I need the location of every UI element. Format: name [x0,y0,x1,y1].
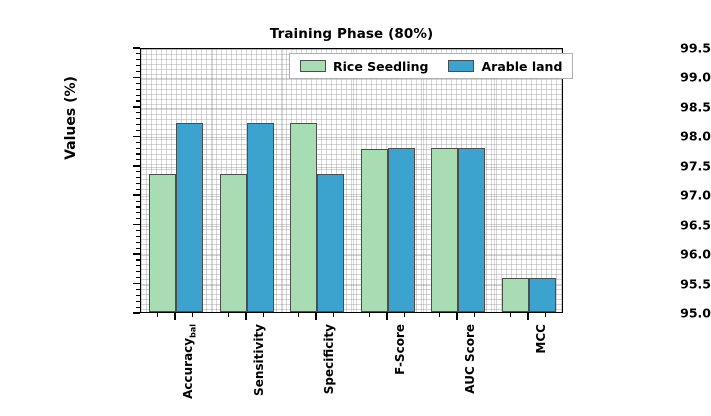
gridline-vertical [353,49,354,312]
x-tick-minor [369,313,370,317]
legend-label-arable-land: Arable land [481,59,562,74]
y-tick-mark [133,136,140,138]
y-tick-mark [133,194,140,196]
bar-rice-seedling [290,123,317,312]
x-tick-mark [174,313,176,320]
y-tick-label: 98.0 [585,129,711,144]
x-tick-mark [315,313,317,320]
bar-rice-seedling [361,149,388,312]
y-tick-mark [133,106,140,108]
y-tick-label: 95.0 [585,306,711,321]
y-tick-label: 97.5 [585,158,711,173]
x-tick-minor [192,313,193,317]
x-tick-minor [545,313,546,317]
gridline-vertical [282,49,283,312]
y-tick-mark [133,165,140,167]
x-tick-minor [510,313,511,317]
gridline-horizontal [141,285,562,286]
y-axis-label: Values (%) [63,43,79,193]
bar-rice-seedling [502,278,529,312]
bar-arable-land [176,123,203,312]
gridline-horizontal [141,108,562,109]
bar-arable-land [247,123,274,312]
y-tick-mark [133,224,140,226]
chart-title: Training Phase (80%) [140,26,563,42]
legend-entry-arable-land: Arable land [448,59,562,74]
x-tick-mark [456,313,458,320]
y-tick-label: 98.5 [585,99,711,114]
gridline-horizontal [141,167,562,168]
bar-chart-figure: Training Phase (80%) Values (%) 99.599.0… [0,0,711,416]
gridline-horizontal [141,137,562,138]
x-tick-label: Accuracybal [181,324,197,399]
x-tick-minor [157,313,158,317]
x-tick-label: AUC Score [463,324,477,394]
x-tick-minor [474,313,475,317]
legend-entry-rice-seedling: Rice Seedling [300,59,428,74]
x-tick-label: Sensitivity [252,324,266,396]
bar-rice-seedling [149,174,176,312]
legend-label-rice-seedling: Rice Seedling [333,59,428,74]
bar-arable-land [388,148,415,312]
y-tick-label: 99.5 [585,41,711,56]
bar-rice-seedling [220,174,247,312]
x-tick-label: F-Score [393,324,407,375]
gridline-horizontal [141,226,562,227]
x-tick-label: MCC [534,324,548,354]
x-tick-mark [386,313,388,320]
y-tick-mark [133,47,140,49]
gridline-vertical [423,49,424,312]
gridline-horizontal [141,49,562,50]
plot-area [140,48,563,313]
y-tick-label: 97.0 [585,188,711,203]
bar-rice-seedling [431,148,458,312]
y-tick-label: 96.5 [585,217,711,232]
gridline-horizontal [141,196,562,197]
x-tick-minor [439,313,440,317]
x-tick-minor [333,313,334,317]
x-tick-mark [245,313,247,320]
x-tick-minor [263,313,264,317]
chart-legend: Rice Seedling Arable land [289,53,573,79]
gridline-horizontal [141,255,562,256]
y-tick-label: 99.0 [585,70,711,85]
gridline-vertical [212,49,213,312]
y-tick-mark [133,253,140,255]
x-tick-mark [527,313,529,320]
x-tick-minor [298,313,299,317]
y-tick-label: 95.5 [585,276,711,291]
legend-swatch-rice-seedling [300,60,326,72]
x-tick-minor [404,313,405,317]
legend-swatch-arable-land [448,60,474,72]
x-tick-label-subscript: bal [189,324,198,338]
gridline-vertical [494,49,495,312]
x-tick-label: Specificity [322,324,336,394]
bar-arable-land [317,174,344,312]
y-tick-label: 96.0 [585,247,711,262]
y-tick-mark [133,283,140,285]
y-tick-mark [133,77,140,79]
bar-arable-land [529,278,556,312]
y-tick-mark [133,312,140,314]
bar-arable-land [458,148,485,312]
x-tick-minor [228,313,229,317]
